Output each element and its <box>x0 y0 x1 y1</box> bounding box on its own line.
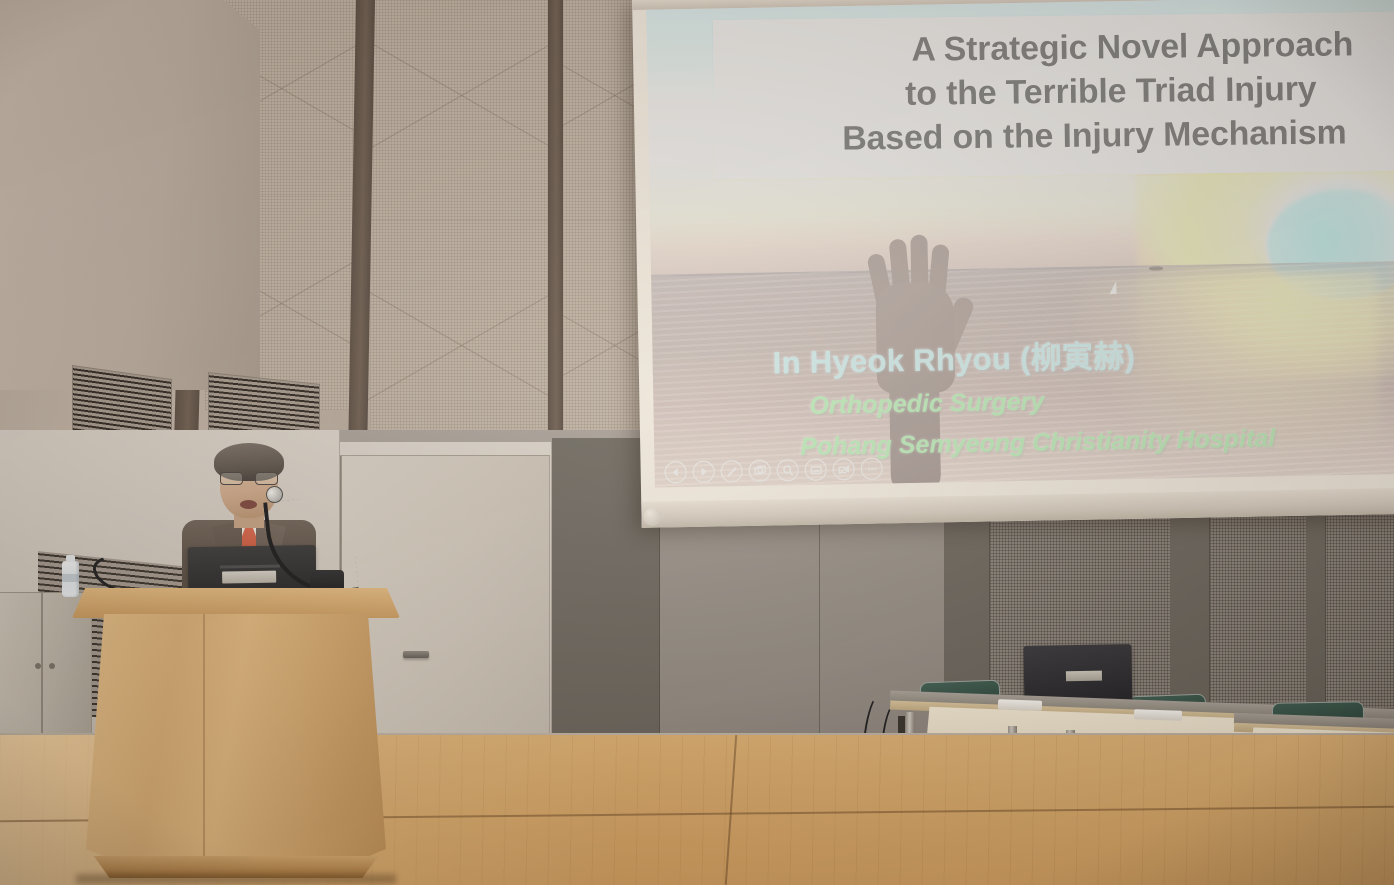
previous-slide-button[interactable] <box>664 461 686 483</box>
pen-icon <box>725 465 738 478</box>
pen-tools-button[interactable] <box>720 460 742 482</box>
distant-boat <box>1149 266 1163 270</box>
door-handle-icon[interactable] <box>403 651 429 658</box>
subtitles-icon <box>809 463 822 476</box>
photo-scene: A Strategic Novel Approach to the Terrib… <box>0 0 1394 885</box>
lectern-top <box>72 588 400 618</box>
chevron-right-circle-icon <box>699 467 709 477</box>
projection-screen: A Strategic Novel Approach to the Terrib… <box>632 0 1394 528</box>
slide-presenter-block: In Hyeok Rhyou (柳寅赫) Orthopedic Surgery … <box>772 325 1394 463</box>
toggle-camera-button[interactable] <box>832 458 854 480</box>
slide-title-line-3: Based on the Injury Mechanism <box>714 109 1394 162</box>
powerpoint-slide: A Strategic Novel Approach to the Terrib… <box>646 0 1394 488</box>
all-slides-button[interactable] <box>748 460 770 482</box>
slide-grid-icon <box>753 464 766 477</box>
lectern-body <box>86 614 386 864</box>
wooden-lectern <box>72 588 400 885</box>
zoom-into-slide-button[interactable] <box>776 459 798 481</box>
toggle-subtitles-button[interactable] <box>804 459 826 481</box>
camera-off-icon <box>837 463 850 476</box>
presenter-department: Orthopedic Surgery <box>773 380 1394 422</box>
monitor-label <box>1066 671 1102 682</box>
wall-pier <box>0 0 260 390</box>
powerpoint-slideshow-toolbar[interactable] <box>664 457 882 483</box>
chevron-left-circle-icon <box>671 467 681 477</box>
more-options-button[interactable] <box>860 457 882 479</box>
ellipsis-icon <box>865 462 878 475</box>
keyboard[interactable] <box>998 699 1042 711</box>
keyboard-secondary[interactable] <box>1134 709 1182 721</box>
screen-weight-knob <box>643 508 661 526</box>
mouth <box>240 500 257 509</box>
slide-title-box: A Strategic Novel Approach to the Terrib… <box>713 11 1394 179</box>
eyeglasses-icon <box>220 472 278 485</box>
acoustic-panel-wall <box>0 0 660 470</box>
next-slide-button[interactable] <box>692 461 714 483</box>
magnifier-icon <box>781 464 794 477</box>
